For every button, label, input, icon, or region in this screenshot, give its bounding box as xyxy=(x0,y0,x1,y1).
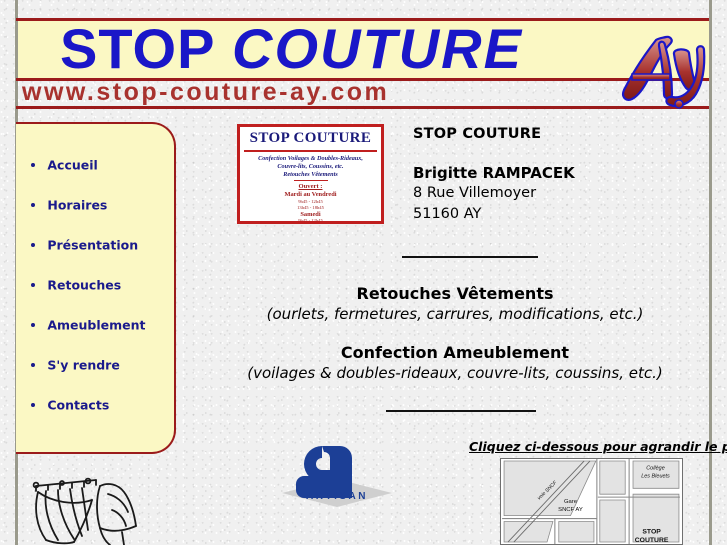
bullet-icon xyxy=(31,363,35,367)
sidebar-item-label: Contacts xyxy=(47,398,109,413)
card-business-name: STOP COUTURE xyxy=(240,130,381,147)
contact-business-name: STOP COUTURE xyxy=(413,126,713,142)
sidebar-nav[interactable]: Accueil Horaires Présentation Retouches … xyxy=(16,122,176,454)
contact-city: 51160 AY xyxy=(413,205,713,224)
sidebar-item-accueil[interactable]: Accueil xyxy=(26,158,174,198)
sidebar-item-sy-rendre[interactable]: S'y rendre xyxy=(26,358,174,398)
card-day-1: Mardi au Vendredi xyxy=(240,191,381,199)
business-card-image: STOP COUTURE Confection Voilages & Doubl… xyxy=(237,124,384,224)
contact-street: 8 Rue Villemoyer xyxy=(413,184,713,203)
map-label-station-2: SNCF AY xyxy=(558,507,583,513)
artisan-logo-icon: ARTISAN xyxy=(278,443,396,511)
sidebar-item-label: Présentation xyxy=(47,238,138,253)
header-rule-bottom xyxy=(16,106,709,109)
garments-sketch-icon xyxy=(22,476,154,545)
contact-block: STOP COUTURE Brigitte RAMPACEK 8 Rue Vil… xyxy=(413,126,713,224)
sidebar-item-label: Horaires xyxy=(47,198,107,213)
bullet-icon xyxy=(31,323,35,327)
site-title: STOP COUTURE xyxy=(60,16,700,82)
sidebar-item-label: Retouches xyxy=(47,278,121,293)
bullet-icon xyxy=(31,283,35,287)
service-heading-confection: Confection Ameublement xyxy=(200,343,710,362)
sidebar-item-label: Accueil xyxy=(47,158,97,173)
map-label-college-2: Les Bleuets xyxy=(641,474,670,480)
card-time-2a: 9h45 - 12h45 xyxy=(240,218,381,224)
card-services-line3: Retouches Vêtements xyxy=(240,171,381,179)
map-label-shop-2: COUTURE xyxy=(635,537,669,544)
divider-top xyxy=(402,256,538,258)
map-label-station: Gare xyxy=(564,499,577,505)
bullet-icon xyxy=(31,163,35,167)
card-underline xyxy=(294,180,328,181)
map-svg: voie SNCF Gare SNCF AY Collège Les Bleue… xyxy=(501,459,682,544)
services-spacer xyxy=(200,323,710,343)
site-title-stop: STOP xyxy=(60,17,215,80)
map-caption: Cliquez ci-dessous pour agrandir le plan xyxy=(469,439,719,454)
site-title-couture: COUTURE xyxy=(232,17,523,80)
sidebar-item-retouches[interactable]: Retouches xyxy=(26,278,174,318)
divider-middle xyxy=(386,410,536,412)
ay-monogram-icon xyxy=(612,28,716,112)
card-day-2: Samedi xyxy=(240,211,381,219)
card-hours-title: Ouvert : xyxy=(240,183,381,191)
service-detail-confection: (voilages & doubles-rideaux, couvre-lits… xyxy=(200,364,710,382)
card-services-line2: Couvre-lits, Coussins, etc. xyxy=(240,163,381,171)
map-label-college: Collège xyxy=(646,466,665,472)
map-thumbnail[interactable]: voie SNCF Gare SNCF AY Collège Les Bleue… xyxy=(500,458,683,545)
sidebar-item-label: Ameublement xyxy=(47,318,145,333)
card-divider xyxy=(244,150,377,152)
contact-person-name: Brigitte RAMPACEK xyxy=(413,164,713,182)
bullet-icon xyxy=(31,243,35,247)
artisan-label: ARTISAN xyxy=(306,491,368,502)
map-label-shop: STOP xyxy=(642,528,661,535)
card-services-line1: Confection Voilages & Doubles-Rideaux, xyxy=(240,155,381,163)
sidebar-item-presentation[interactable]: Présentation xyxy=(26,238,174,278)
service-detail-retouches: (ourlets, fermetures, carrures, modifica… xyxy=(200,305,710,323)
bullet-icon xyxy=(31,203,35,207)
services-block: Retouches Vêtements (ourlets, fermetures… xyxy=(200,284,710,382)
sidebar-list: Accueil Horaires Présentation Retouches … xyxy=(16,124,174,438)
sidebar-item-label: S'y rendre xyxy=(47,358,119,373)
sidebar-item-contacts[interactable]: Contacts xyxy=(26,398,174,438)
site-url: www.stop-couture-ay.com xyxy=(22,79,622,106)
sidebar-item-ameublement[interactable]: Ameublement xyxy=(26,318,174,358)
service-heading-retouches: Retouches Vêtements xyxy=(200,284,710,303)
bullet-icon xyxy=(31,403,35,407)
sidebar-item-horaires[interactable]: Horaires xyxy=(26,198,174,238)
